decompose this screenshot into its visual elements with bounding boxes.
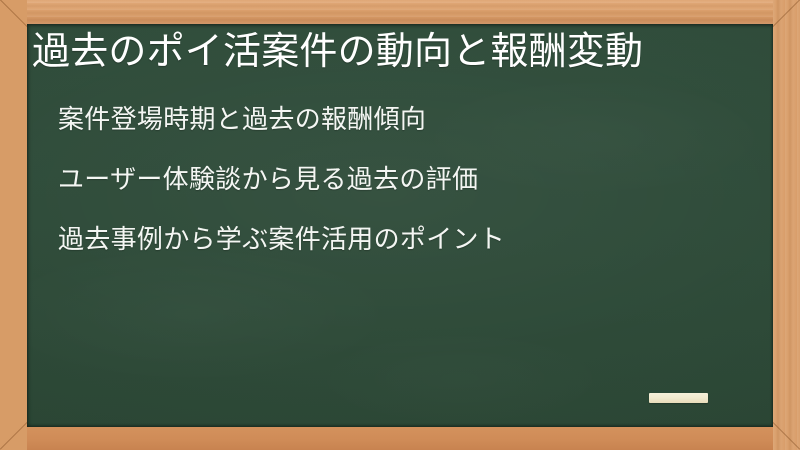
frame-top-rail — [0, 0, 800, 24]
slide-title: 過去のポイ活案件の動向と報酬変動 — [32, 29, 763, 75]
frame-right-stile — [773, 0, 800, 450]
chalkboard-slide: 過去のポイ活案件の動向と報酬変動 案件登場時期と過去の報酬傾向 ユーザー体験談か… — [0, 0, 800, 450]
slide-bullet-item-1: 案件登場時期と過去の報酬傾向 — [58, 104, 759, 135]
slide-bullet-item-3: 過去事例から学ぶ案件活用のポイント — [58, 224, 759, 255]
chalkboard-surface: 過去のポイ活案件の動向と報酬変動 案件登場時期と過去の報酬傾向 ユーザー体験談か… — [27, 24, 773, 427]
slide-bullet-list: 案件登場時期と過去の報酬傾向 ユーザー体験談から見る過去の評価 過去事例から学ぶ… — [58, 104, 759, 256]
frame-left-stile — [0, 0, 27, 450]
frame-bottom-ledge — [0, 426, 800, 450]
chalk-stick-icon — [649, 393, 708, 403]
slide-bullet-item-2: ユーザー体験談から見る過去の評価 — [58, 164, 759, 195]
